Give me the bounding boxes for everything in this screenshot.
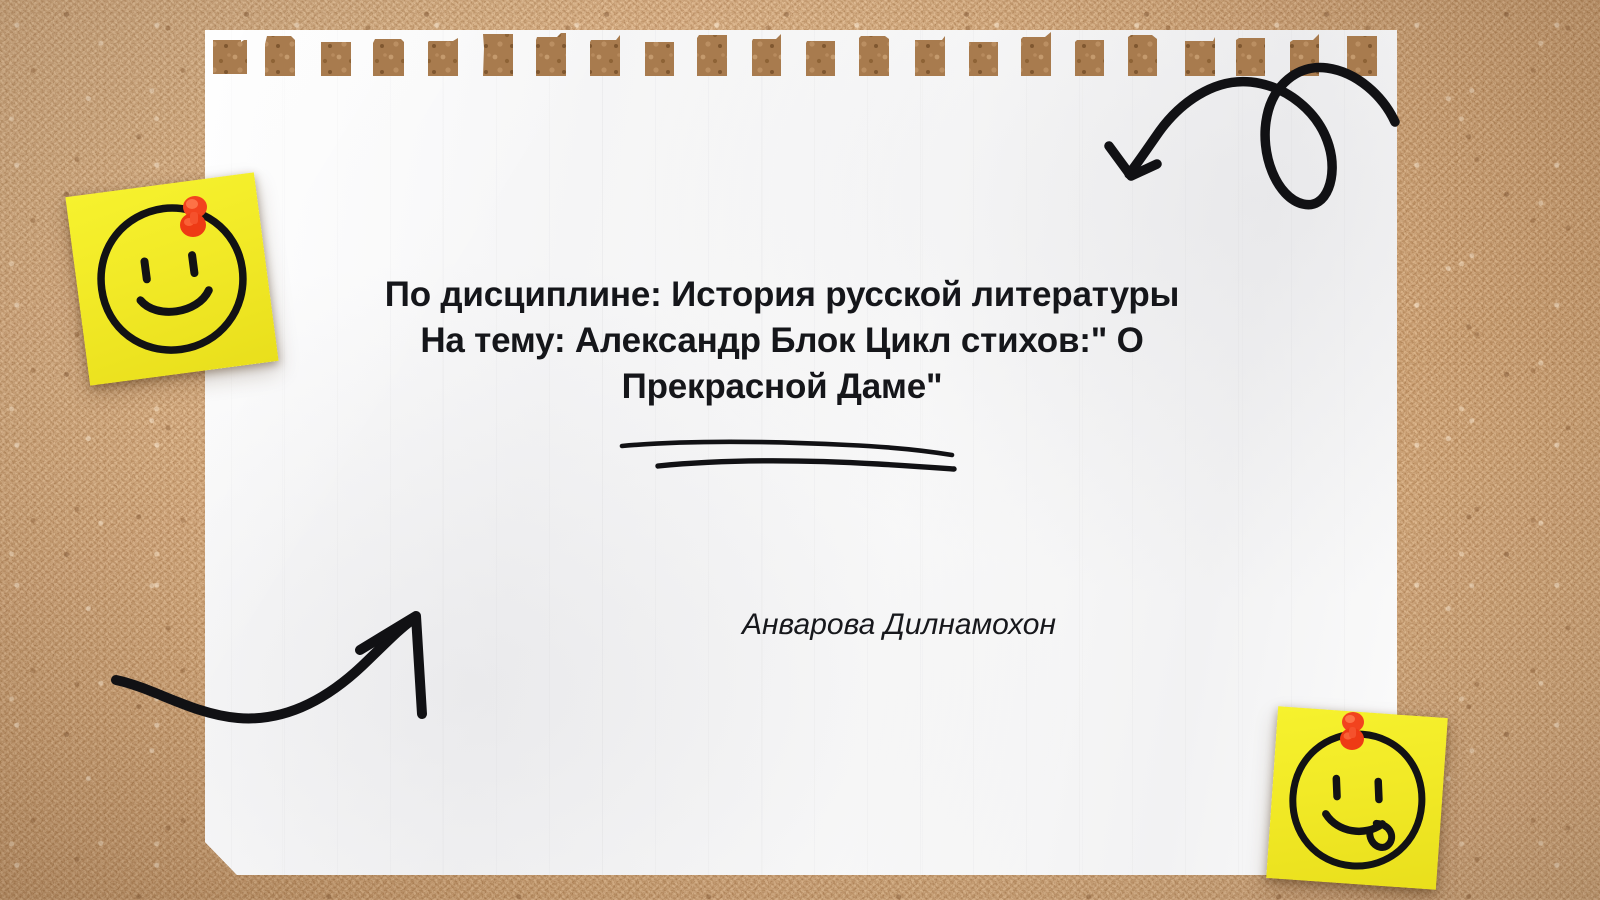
sticky-note-top-left[interactable] (65, 172, 278, 385)
sticky-note-bottom-right[interactable] (1266, 706, 1448, 889)
smiley-face-tongue-icon (1266, 706, 1448, 889)
slide-canvas: По дисциплине: История русской литератур… (0, 0, 1600, 900)
smiley-face-icon (65, 172, 278, 385)
notepad-paper-sheet (205, 30, 1397, 875)
paper-sheen-overlay (205, 30, 1397, 875)
